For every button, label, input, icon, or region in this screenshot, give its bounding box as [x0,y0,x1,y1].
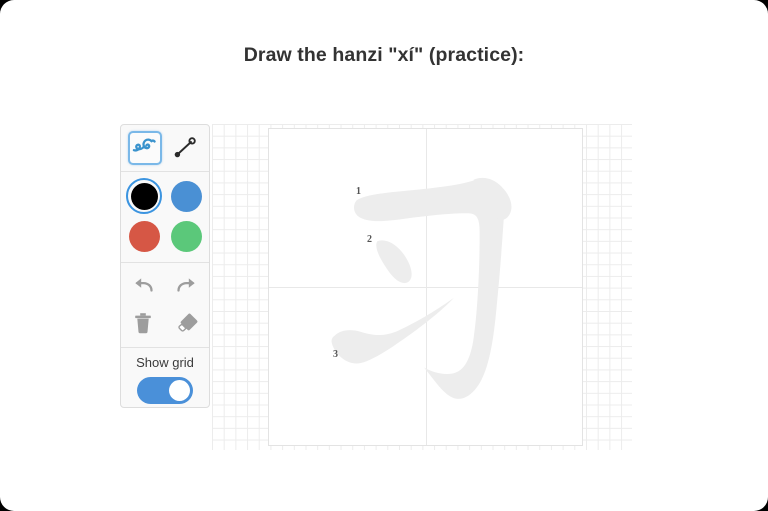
color-swatch-red[interactable] [126,218,162,254]
stroke-2-path [376,240,411,283]
drawing-canvas[interactable]: 1 2 3 [212,124,632,450]
show-grid-label: Show grid [121,355,209,370]
color-dot [129,221,160,252]
drawing-toolbar: Show grid [120,124,210,408]
stroke-1-path [354,178,505,399]
color-dot [131,183,158,210]
app-window: Draw the hanzi "xí" (practice): [0,0,768,511]
color-dot [171,181,202,212]
line-tool-button[interactable] [168,131,202,165]
color-swatch-blue[interactable] [168,178,204,214]
trash-icon [132,311,154,335]
freehand-tool-button[interactable] [128,131,162,165]
stroke-number-3: 3 [333,349,338,360]
eraser-button[interactable] [172,308,202,338]
color-dot [171,221,202,252]
hanzi-guide-strokes [269,129,582,445]
stroke-number-1: 1 [356,186,361,197]
tool-section [121,125,209,172]
undo-button[interactable] [128,270,158,300]
stroke-number-2: 2 [367,234,372,245]
scribble-icon [132,136,158,160]
clear-button[interactable] [128,308,158,338]
character-guide-box[interactable]: 1 2 3 [268,128,583,446]
redo-button[interactable] [172,270,202,300]
grid-toggle-section: Show grid [121,348,209,419]
line-icon [172,136,198,160]
toggle-knob [169,380,190,401]
action-section [121,263,209,348]
eraser-icon [174,311,200,335]
undo-icon [131,275,155,295]
stroke-3-path [332,298,454,364]
color-section [121,172,209,263]
show-grid-toggle[interactable] [137,377,193,404]
color-swatch-black[interactable] [126,178,162,214]
color-swatch-green[interactable] [168,218,204,254]
page-title: Draw the hanzi "xí" (practice): [0,44,768,67]
redo-icon [175,275,199,295]
